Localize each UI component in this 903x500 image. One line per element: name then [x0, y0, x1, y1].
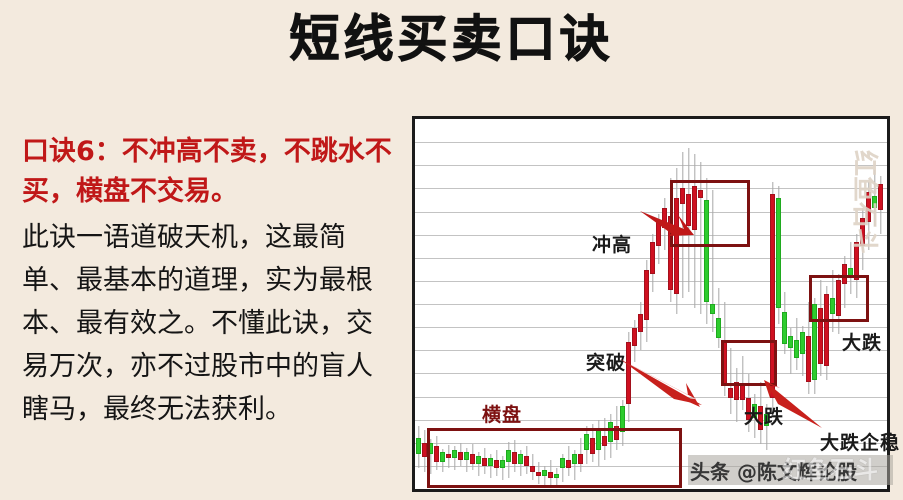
candle-body [416, 438, 421, 454]
candle-body [710, 304, 715, 314]
chart-gridline [415, 142, 887, 143]
candlestick [644, 260, 649, 342]
candlestick [776, 186, 781, 324]
watermark-outside: 红鱼石斗 [848, 150, 885, 254]
candle-body [638, 314, 643, 332]
article-column: 口诀6：不冲高不卖，不跳水不买，横盘不交易。 此诀一语道破天机，这最简单、最基本… [22, 132, 397, 431]
candle-body [806, 336, 811, 382]
candlestick [788, 328, 793, 374]
watermark-overlay: 红鱼石斗 [782, 450, 878, 485]
chart-gridline [415, 165, 887, 166]
candlestick [794, 318, 799, 370]
candle-body [794, 340, 799, 358]
candle-wick [790, 328, 791, 374]
page-root: 短线买卖口诀 口诀6：不冲高不卖，不跳水不买，横盘不交易。 此诀一语道破天机，这… [0, 0, 903, 500]
candlestick [800, 326, 805, 376]
big-drop-box [809, 275, 869, 322]
candlestick-chart [412, 116, 890, 492]
candle-body [776, 198, 781, 308]
chart-label-surge-high: 冲高 [592, 230, 632, 257]
arrow-surge-high-icon [638, 205, 698, 245]
article-lead: 口诀6：不冲高不卖，不跳水不买，横盘不交易。 [22, 132, 397, 212]
candlestick [782, 292, 787, 354]
sideways-box [427, 428, 682, 488]
candle-body [800, 332, 805, 354]
candle-body [782, 312, 787, 344]
candle-body [644, 270, 649, 320]
article-body: 此诀一语道破天机，这最简单、最基本的道理，实为最根本、最有效之。不懂此诀，交易万… [22, 216, 397, 431]
candlestick [716, 288, 721, 348]
candle-body [788, 336, 793, 348]
candle-body [650, 242, 655, 274]
candle-body [728, 388, 733, 398]
arrow-stabilize-icon [760, 378, 830, 433]
candle-body [632, 328, 637, 346]
arrow-breakout-icon [616, 355, 716, 415]
candlestick [638, 302, 643, 350]
chart-gridline [415, 188, 887, 189]
chart-label-big-drop-right: 大跌 [842, 328, 882, 355]
candlestick [416, 426, 421, 468]
candle-body [716, 318, 721, 338]
chart-label-sideways: 横盘 [482, 400, 522, 427]
page-title: 短线买卖口诀 [0, 8, 903, 70]
candle-body [740, 384, 745, 400]
chart-plot-area [415, 119, 887, 489]
